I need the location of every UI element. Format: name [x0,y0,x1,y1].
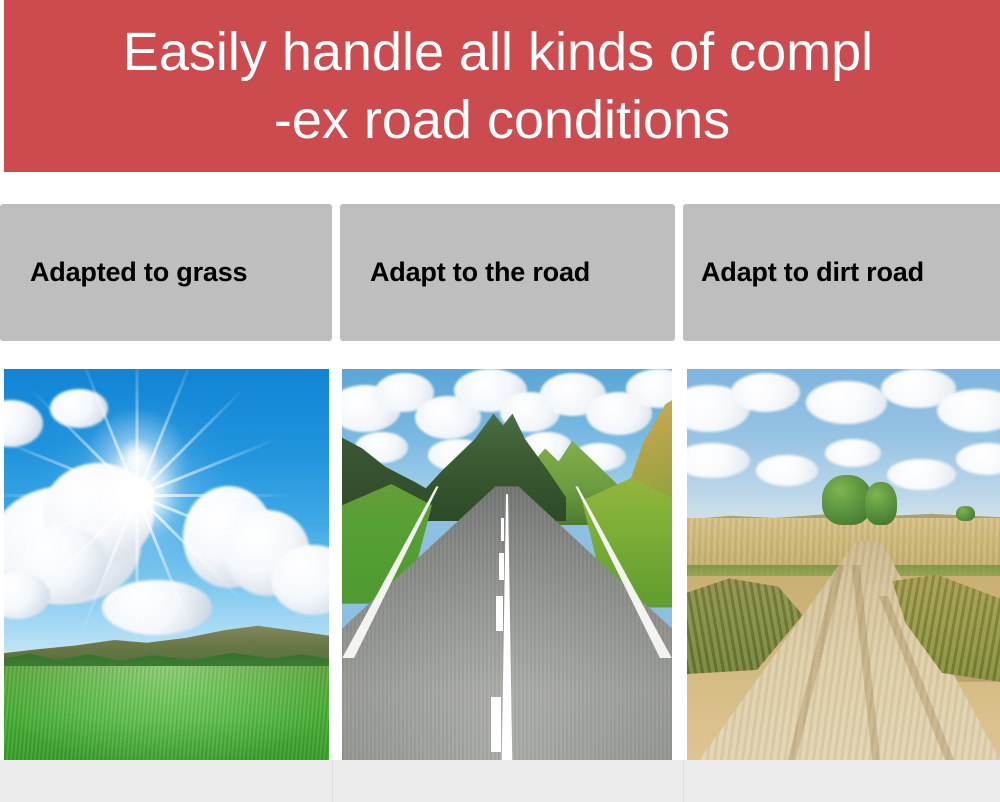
center-line-dash [499,553,504,580]
tab-adapt-to-the-road[interactable]: Adapt to the road [340,204,675,341]
grass-field-photo[interactable] [4,369,329,760]
cloud [806,381,887,424]
cloud [731,373,800,412]
photo-panel-row [0,369,1000,802]
tree [865,482,896,525]
center-line-dash [496,596,502,631]
headline-line-1: Easily handle all kinds of compl [123,18,873,86]
paved-road-image [342,369,672,760]
product-feature-slide: Easily handle all kinds of compl -ex roa… [0,0,1000,802]
footer-divider [683,760,684,802]
footer-divider [332,760,333,802]
paved-road-photo[interactable] [342,369,672,760]
headline-banner: Easily handle all kinds of compl -ex roa… [4,0,1000,172]
tab-label: Adapt to dirt road [683,257,924,288]
tab-label: Adapt to the road [340,257,590,288]
footer-strip [0,760,1000,802]
tree [822,475,872,526]
grass-field-image [4,369,329,760]
cloud [825,439,881,466]
cloud [102,580,213,635]
cloud [887,459,956,490]
center-line-dash [501,518,504,541]
dirt-road-photo[interactable] [687,369,1000,760]
headline-line-2: -ex road conditions [274,86,730,154]
tab-strip: Adapted to grass Adapt to the road Adapt… [0,204,1000,341]
tree [956,506,975,522]
center-line-dash [491,697,502,752]
dirt-road-image [687,369,1000,760]
tab-adapted-to-grass[interactable]: Adapted to grass [0,204,332,341]
tab-adapt-to-dirt-road[interactable]: Adapt to dirt road [683,204,1000,341]
grass-field-layer [4,666,329,760]
tab-label: Adapted to grass [0,257,247,288]
